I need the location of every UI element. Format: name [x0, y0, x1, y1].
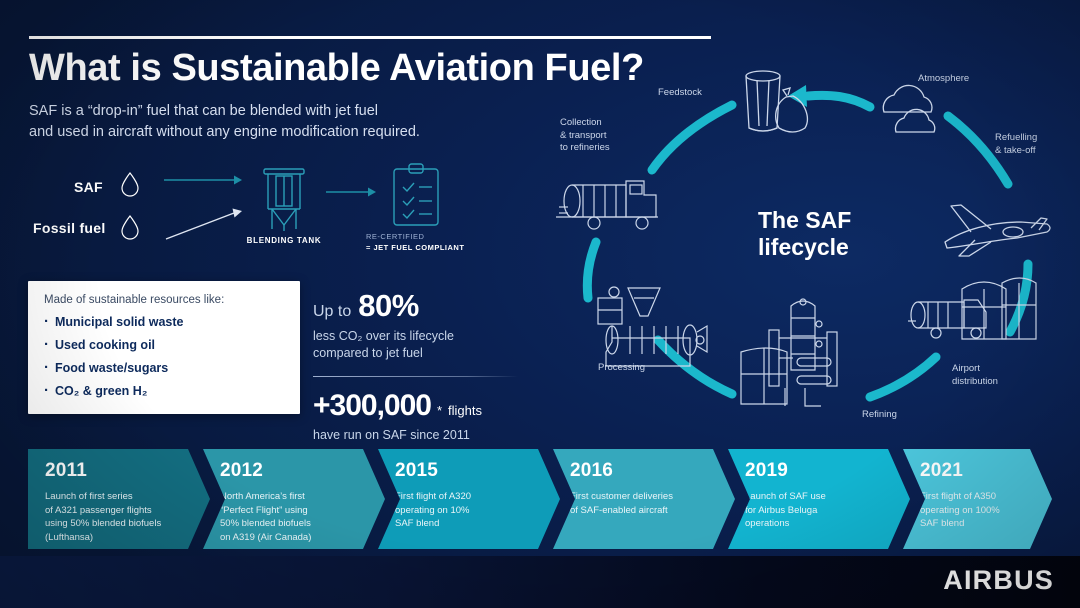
saf-label: SAF [74, 179, 103, 195]
airport-line-1: Airport [952, 363, 998, 376]
refuelling-line-1: Refuelling [995, 132, 1037, 145]
refinery-plant-icon [735, 292, 875, 415]
timeline-year: 2019 [745, 460, 910, 482]
timeline-description: First flight of A320 operating on 10% SA… [395, 490, 560, 531]
collection-line-3: to refineries [560, 142, 610, 155]
desc-line: of SAF-enabled aircraft [570, 504, 735, 518]
timeline-year: 2015 [395, 460, 560, 482]
blending-tank-icon [250, 163, 318, 240]
saf-milestone-timeline: 2011 Launch of first series of A321 pass… [28, 449, 1052, 549]
lifecycle-label-collection: Collection & transport to refineries [560, 117, 610, 155]
refuelling-line-2: & take-off [995, 145, 1037, 158]
feedstock-bin-icon [735, 66, 811, 145]
lifecycle-title-line-1: The SAF [758, 207, 928, 234]
desc-line: “Perfect Flight” using [220, 504, 385, 518]
tanker-truck-icon [554, 157, 690, 250]
desc-line: North America’s first [220, 490, 385, 504]
flights-stat-description: have run on SAF since 2011 [313, 428, 528, 442]
resources-list: Municipal solid waste Used cooking oil F… [44, 315, 284, 398]
timeline-year: 2016 [570, 460, 735, 482]
airport-storage-tanks-icon [902, 267, 1038, 362]
fossil-fuel-label: Fossil fuel [33, 220, 106, 236]
subtitle-line-1: SAF is a “drop-in” fuel that can be blen… [29, 101, 420, 122]
lifecycle-title: The SAF lifecycle [758, 207, 928, 261]
list-item: CO₂ & green H₂ [44, 384, 284, 398]
timeline-item-2015[interactable]: 2015 First flight of A320 operating on 1… [378, 449, 560, 549]
timeline-year: 2012 [220, 460, 385, 482]
airport-line-2: distribution [952, 376, 998, 389]
desc-line: of A321 passenger flights [45, 504, 210, 518]
list-item: Municipal solid waste [44, 315, 284, 329]
certification-caption: RE-CERTIFIED = JET FUEL COMPLIANT [366, 231, 464, 253]
certification-line-1: RE-CERTIFIED [366, 231, 464, 242]
clipboard-certification-icon [388, 163, 444, 234]
desc-line: SAF blend [395, 517, 560, 531]
desc-line: Launch of SAF use [745, 490, 910, 504]
timeline-item-2012[interactable]: 2012 North America’s first “Perfect Flig… [203, 449, 385, 549]
desc-line: First flight of A320 [395, 490, 560, 504]
flights-stat-headline: +300,000 * flights [313, 389, 528, 423]
desc-line: for Airbus Beluga [745, 504, 910, 518]
list-item: Food waste/sugars [44, 361, 284, 375]
droplet-icon-fossil [120, 214, 140, 245]
desc-line: operations [745, 517, 910, 531]
flights-stat-asterisk: * [437, 403, 442, 418]
co2-desc-line-1: less CO₂ over its lifecycle [313, 328, 528, 345]
timeline-description: Launch of SAF use for Airbus Beluga oper… [745, 490, 910, 531]
timeline-item-2021[interactable]: 2021 First flight of A350 operating on 1… [903, 449, 1052, 549]
desc-line: Launch of first series [45, 490, 210, 504]
desc-line: 50% blended biofuels [220, 517, 385, 531]
co2-desc-line-2: compared to jet fuel [313, 345, 528, 362]
timeline-item-2016[interactable]: 2016 First customer deliveries of SAF-en… [553, 449, 735, 549]
co2-stat-headline: Up to 80% [313, 288, 528, 324]
page-subtitle: SAF is a “drop-in” fuel that can be blen… [29, 101, 420, 143]
flights-stat-unit: flights [448, 403, 482, 418]
airbus-logo: AIRBUS [943, 565, 1054, 596]
timeline-item-2019[interactable]: 2019 Launch of SAF use for Airbus Beluga… [728, 449, 910, 549]
flights-stat-value: +300,000 [313, 389, 431, 423]
desc-line: on A319 (Air Canada) [220, 531, 385, 545]
timeline-year: 2011 [45, 460, 210, 482]
lifecycle-label-feedstock: Feedstock [658, 87, 702, 100]
statistics-block: Up to 80% less CO₂ over its lifecycle co… [313, 288, 528, 442]
lifecycle-label-refuelling: Refuelling & take-off [995, 132, 1037, 157]
lifecycle-title-line-2: lifecycle [758, 234, 928, 261]
desc-line: operating on 10% [395, 504, 560, 518]
co2-stat-value: 80% [358, 288, 419, 324]
desc-line: First customer deliveries [570, 490, 735, 504]
desc-line: SAF blend [920, 517, 1052, 531]
collection-line-2: & transport [560, 130, 610, 143]
blending-diagram: SAF Fossil fuel [28, 163, 518, 268]
list-item: Used cooking oil [44, 338, 284, 352]
lifecycle-label-airport: Airport distribution [952, 363, 998, 388]
co2-stat-description: less CO₂ over its lifecycle compared to … [313, 328, 528, 362]
timeline-description: First customer deliveries of SAF-enabled… [570, 490, 735, 517]
desc-line: (Lufthansa) [45, 531, 210, 545]
stats-divider [313, 376, 518, 377]
blending-tank-caption: BLENDING TANK [224, 236, 344, 245]
sustainable-resources-card: Made of sustainable resources like: Muni… [28, 281, 300, 414]
processing-machine-icon [590, 282, 714, 379]
arrow-icon-saf-to-tank [164, 173, 244, 192]
timeline-description: Launch of first series of A321 passenger… [45, 490, 210, 544]
droplet-icon-saf [120, 171, 140, 202]
timeline-item-2011[interactable]: 2011 Launch of first series of A321 pass… [28, 449, 210, 549]
timeline-year: 2021 [920, 460, 1052, 482]
desc-line: using 50% blended biofuels [45, 517, 210, 531]
timeline-description: North America’s first “Perfect Flight” u… [220, 490, 385, 544]
certification-line-2: = JET FUEL COMPLIANT [366, 242, 464, 253]
collection-line-1: Collection [560, 117, 610, 130]
subtitle-line-2: and used in aircraft without any engine … [29, 122, 420, 143]
aircraft-takeoff-icon [935, 188, 1057, 271]
co2-stat-prefix: Up to [313, 303, 351, 321]
infographic-canvas: What is Sustainable Aviation Fuel? SAF i… [0, 0, 1080, 608]
atmosphere-cloud-icon [870, 80, 962, 147]
header-rule [29, 36, 711, 39]
footer-band [0, 556, 1080, 608]
resources-card-heading: Made of sustainable resources like: [44, 294, 284, 306]
timeline-description: First flight of A350 operating on 100% S… [920, 490, 1052, 531]
arrow-icon-tank-to-certification [326, 185, 378, 204]
desc-line: operating on 100% [920, 504, 1052, 518]
desc-line: First flight of A350 [920, 490, 1052, 504]
saf-lifecycle-diagram: The SAF lifecycle Feedstock Atmosphere R… [540, 52, 1080, 442]
